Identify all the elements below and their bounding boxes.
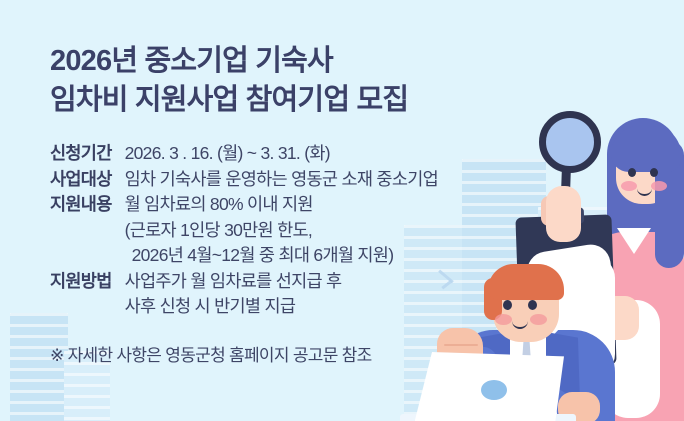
woman-hair-front — [611, 126, 681, 172]
detail-line: 2026년 4월~12월 중 최대 6개월 지원) — [125, 243, 438, 269]
detail-value-application-period: 2026. 3 . 16. (월) ~ 3. 31. (화) — [125, 141, 438, 167]
detail-line: 임차 기숙사를 운영하는 영동군 소재 중소기업 — [125, 167, 438, 193]
poster-text-block: 2026년 중소기업 기숙사 임차비 지원사업 참여기업 모집 신청기간 202… — [50, 42, 520, 366]
detail-label-support-content: 지원내용 — [50, 192, 125, 269]
woman-eye-right — [650, 168, 658, 177]
man-cheek-right — [530, 314, 547, 325]
table-row: 지원내용 월 임차료의 80% 이내 지원 (근로자 1인당 30만원 한도, … — [50, 192, 438, 269]
page-title: 2026년 중소기업 기숙사 임차비 지원사업 참여기업 모집 — [50, 42, 520, 119]
details-table: 신청기간 2026. 3 . 16. (월) ~ 3. 31. (화) 사업대상… — [50, 141, 438, 320]
magnifying-glass-icon — [539, 111, 601, 173]
laptop-logo-icon — [481, 380, 507, 400]
table-row: 사업대상 임차 기숙사를 운영하는 영동군 소재 중소기업 — [50, 167, 438, 193]
detail-line: 2026. 3 . 16. (월) ~ 3. 31. (화) — [125, 141, 438, 167]
woman-cheek-left — [621, 181, 637, 191]
detail-label-application-period: 신청기간 — [50, 141, 125, 167]
detail-label-support-method: 지원방법 — [50, 269, 125, 320]
man-eye-right — [528, 300, 537, 310]
woman-cheek-right — [651, 181, 667, 191]
detail-line: 사업주가 월 임차료를 선지급 후 — [125, 269, 438, 295]
detail-value-support-method: 사업주가 월 임차료를 선지급 후 사후 신청 시 반기별 지급 — [125, 269, 438, 320]
details-table-body: 신청기간 2026. 3 . 16. (월) ~ 3. 31. (화) 사업대상… — [50, 141, 438, 320]
title-line-2: 임차비 지원사업 참여기업 모집 — [50, 81, 520, 120]
woman-eye-left — [628, 168, 636, 177]
footnote-reference: ※ 자세한 사항은 영동군청 홈페이지 공고문 참조 — [50, 341, 520, 366]
detail-value-eligible-target: 임차 기숙사를 운영하는 영동군 소재 중소기업 — [125, 167, 438, 193]
detail-value-support-content: 월 임차료의 80% 이내 지원 (근로자 1인당 30만원 한도, 2026년… — [125, 192, 438, 269]
detail-label-eligible-target: 사업대상 — [50, 167, 125, 193]
detail-line: 월 임차료의 80% 이내 지원 — [125, 192, 438, 218]
promotional-poster: 2026년 중소기업 기숙사 임차비 지원사업 참여기업 모집 신청기간 202… — [0, 0, 684, 421]
table-row: 지원방법 사업주가 월 임차료를 선지급 후 사후 신청 시 반기별 지급 — [50, 269, 438, 320]
detail-line: 사후 신청 시 반기별 지급 — [125, 294, 438, 320]
table-row: 신청기간 2026. 3 . 16. (월) ~ 3. 31. (화) — [50, 141, 438, 167]
woman-left-hand — [546, 186, 581, 242]
title-line-1: 2026년 중소기업 기숙사 — [50, 42, 520, 81]
detail-line: (근로자 1인당 30만원 한도, — [125, 218, 438, 244]
